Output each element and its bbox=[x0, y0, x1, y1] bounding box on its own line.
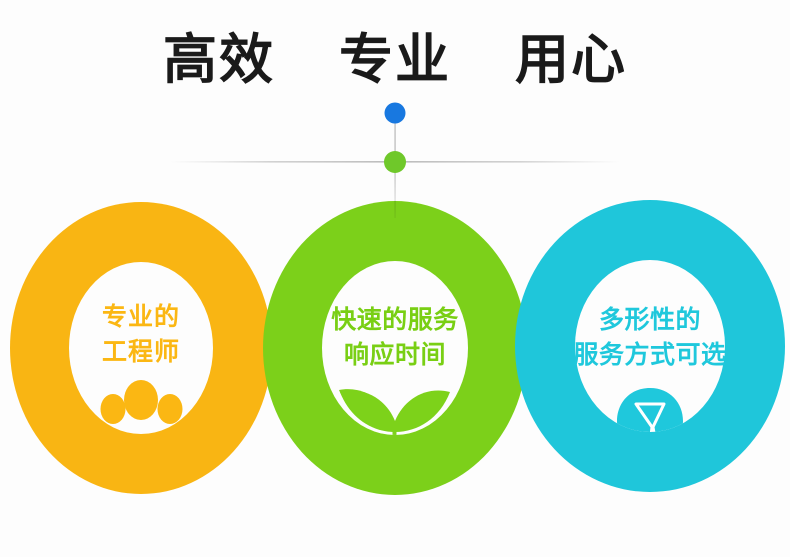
green-dot-icon bbox=[384, 151, 406, 173]
ring-cyan bbox=[0, 190, 790, 510]
blue-dot-icon bbox=[385, 103, 406, 124]
headline-word-3: 用心 bbox=[515, 26, 627, 94]
headline-word-1: 高效 bbox=[163, 26, 275, 94]
venn-rings bbox=[0, 190, 790, 510]
stem-line-upper bbox=[394, 113, 396, 162]
infographic-canvas: 高效专业用心 bbox=[0, 0, 790, 557]
headline-word-2: 专业 bbox=[339, 26, 451, 94]
page-title: 高效专业用心 bbox=[0, 26, 790, 94]
crossbar-line bbox=[170, 161, 620, 163]
